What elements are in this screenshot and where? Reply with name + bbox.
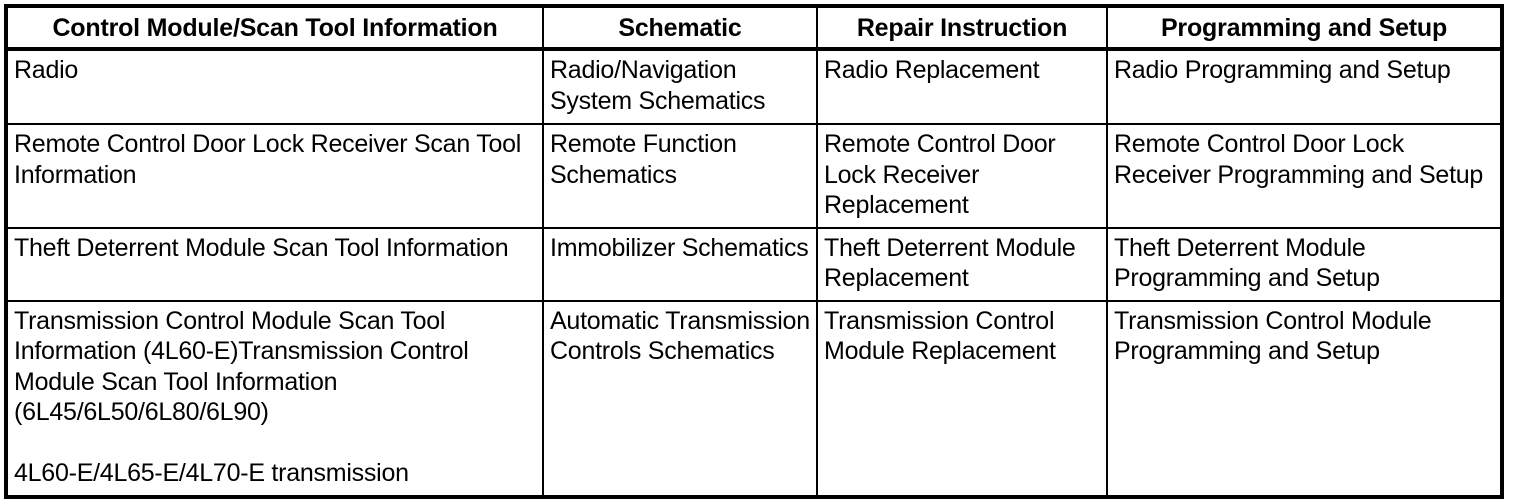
cell-control-module: Radio bbox=[6, 49, 543, 124]
cell-text: Radio bbox=[14, 55, 536, 86]
cell-text: Immobilizer Schematics bbox=[550, 233, 810, 264]
table-container: Control Module/Scan Tool Information Sch… bbox=[4, 4, 1500, 478]
cell-schematic: Automatic Transmission Controls Schemati… bbox=[543, 301, 817, 497]
cell-control-module: Transmission Control Module Scan Tool In… bbox=[6, 301, 543, 497]
cell-control-module: Remote Control Door Lock Receiver Scan T… bbox=[6, 124, 543, 228]
column-header-programming-and-setup: Programming and Setup bbox=[1107, 6, 1502, 49]
cell-repair-instruction: Radio Replacement bbox=[817, 49, 1107, 124]
cell-text: Theft Deterrent Module Programming and S… bbox=[1114, 233, 1494, 294]
cell-text: Theft Deterrent Module Replacement bbox=[824, 233, 1100, 294]
cell-text: Remote Control Door Lock Receiver Scan T… bbox=[14, 129, 536, 190]
table-header: Control Module/Scan Tool Information Sch… bbox=[6, 6, 1502, 49]
cell-repair-instruction: Transmission Control Module Replacement bbox=[817, 301, 1107, 497]
cell-schematic: Immobilizer Schematics bbox=[543, 228, 817, 301]
table-body: Radio Radio/Navigation System Schematics… bbox=[6, 49, 1502, 497]
table-row: Theft Deterrent Module Scan Tool Informa… bbox=[6, 228, 1502, 301]
table-row: Remote Control Door Lock Receiver Scan T… bbox=[6, 124, 1502, 228]
cell-programming-and-setup: Remote Control Door Lock Receiver Progra… bbox=[1107, 124, 1502, 228]
cell-text: Remote Function Schematics bbox=[550, 129, 810, 190]
cell-text: Transmission Control Module Replacement bbox=[824, 306, 1100, 367]
cell-schematic: Radio/Navigation System Schematics bbox=[543, 49, 817, 124]
column-header-control-module-scan-tool-information: Control Module/Scan Tool Information bbox=[6, 6, 543, 49]
table-row: Transmission Control Module Scan Tool In… bbox=[6, 301, 1502, 497]
control-module-reference-table: Control Module/Scan Tool Information Sch… bbox=[4, 4, 1504, 499]
cell-programming-and-setup: Transmission Control Module Programming … bbox=[1107, 301, 1502, 497]
table-header-row: Control Module/Scan Tool Information Sch… bbox=[6, 6, 1502, 49]
cell-control-module: Theft Deterrent Module Scan Tool Informa… bbox=[6, 228, 543, 301]
cell-repair-instruction: Remote Control Door Lock Receiver Replac… bbox=[817, 124, 1107, 228]
cell-text: Theft Deterrent Module Scan Tool Informa… bbox=[14, 233, 536, 264]
cell-repair-instruction: Theft Deterrent Module Replacement bbox=[817, 228, 1107, 301]
cell-text: Remote Control Door Lock Receiver Progra… bbox=[1114, 129, 1494, 190]
column-header-repair-instruction: Repair Instruction bbox=[817, 6, 1107, 49]
cell-schematic: Remote Function Schematics bbox=[543, 124, 817, 228]
cell-text: Radio Programming and Setup bbox=[1114, 55, 1494, 86]
cell-text: Radio Replacement bbox=[824, 55, 1100, 86]
cell-programming-and-setup: Radio Programming and Setup bbox=[1107, 49, 1502, 124]
cell-programming-and-setup: Theft Deterrent Module Programming and S… bbox=[1107, 228, 1502, 301]
cell-text: Automatic Transmission Controls Schemati… bbox=[550, 306, 810, 367]
cell-text: Transmission Control Module Programming … bbox=[1114, 306, 1494, 367]
table-row: Radio Radio/Navigation System Schematics… bbox=[6, 49, 1502, 124]
cell-text: Radio/Navigation System Schematics bbox=[550, 55, 810, 116]
cell-text: Remote Control Door Lock Receiver Replac… bbox=[824, 129, 1100, 221]
cell-text: Transmission Control Module Scan Tool In… bbox=[14, 306, 536, 489]
column-header-schematic: Schematic bbox=[543, 6, 817, 49]
